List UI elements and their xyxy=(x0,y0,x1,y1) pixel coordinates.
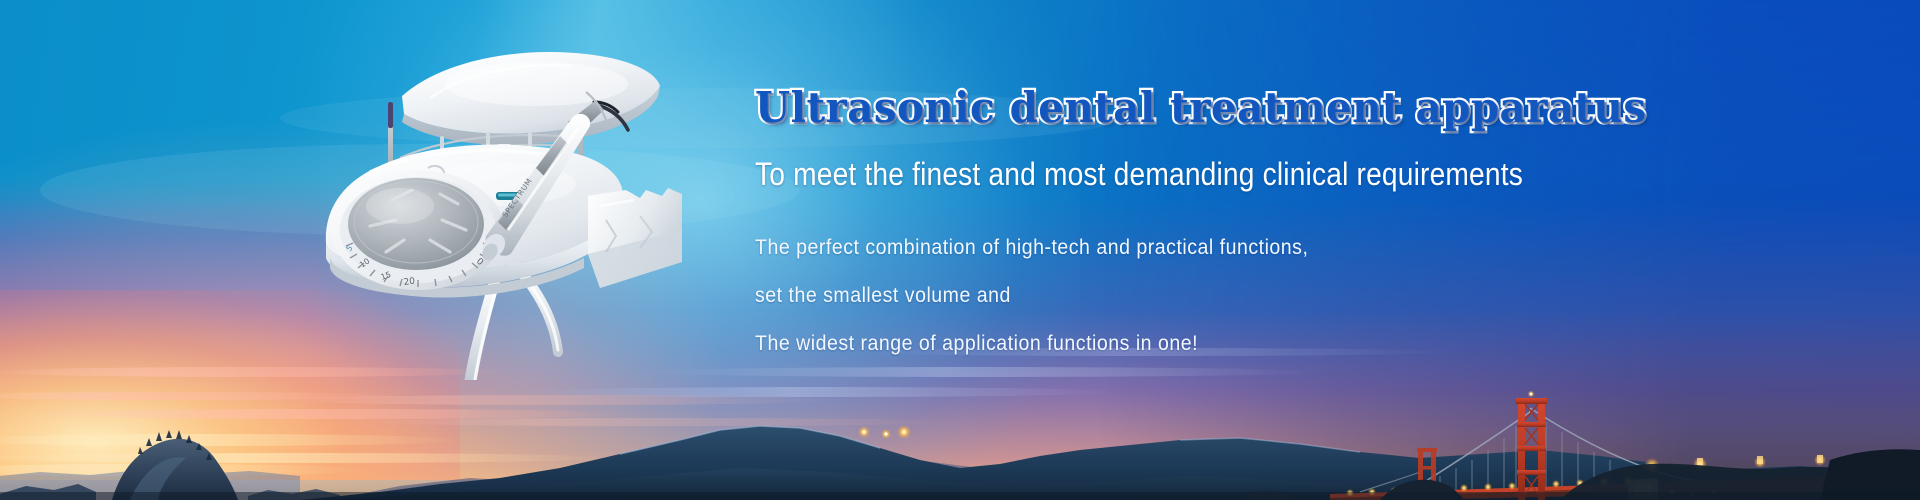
device-canopy xyxy=(402,52,660,145)
device-side-tray xyxy=(588,188,682,288)
banner-copy: Ultrasonic dental treatment apparatus To… xyxy=(755,86,1655,354)
description-block: The perfect combination of high-tech and… xyxy=(755,237,1655,354)
description-line-3: The widest range of application function… xyxy=(755,333,1592,354)
page-subtitle: To meet the finest and most demanding cl… xyxy=(755,156,1547,193)
ultrasonic-scaler-device: 20 15 10 5 0 xyxy=(300,40,720,380)
description-line-2: set the smallest volume and xyxy=(755,285,1592,306)
device-control-dial: 20 15 10 5 0 xyxy=(332,170,504,290)
page-title: Ultrasonic dental treatment apparatus xyxy=(755,86,1619,130)
description-line-1: The perfect combination of high-tech and… xyxy=(755,237,1592,258)
svg-text:20: 20 xyxy=(403,276,416,288)
product-banner: 20 15 10 5 0 xyxy=(0,0,1920,500)
